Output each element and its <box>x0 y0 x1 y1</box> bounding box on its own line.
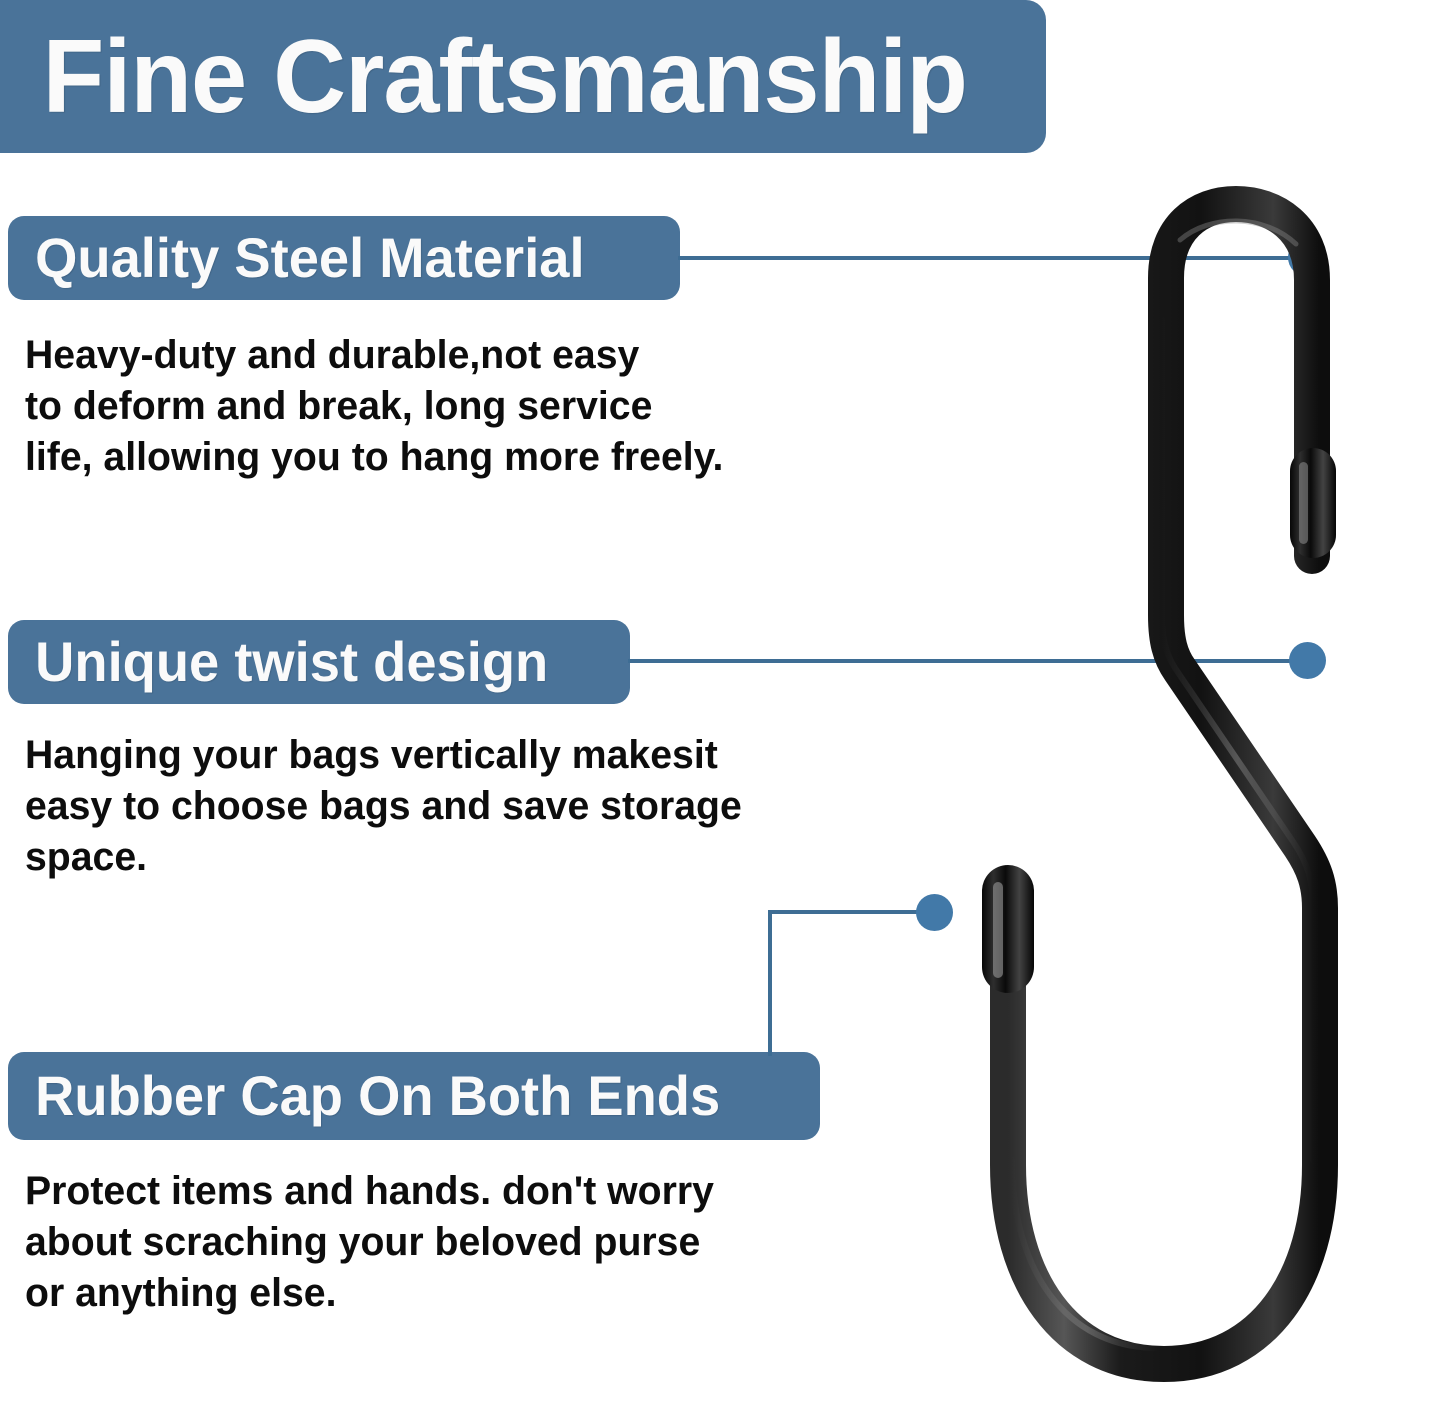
feature-description-quality-steel-material: Heavy-duty and durable,not easy to defor… <box>25 330 809 484</box>
rubber-cap-top-highlight <box>1299 462 1308 544</box>
feature-description-unique-twist-design: Hanging your bags vertically makesit eas… <box>25 730 809 884</box>
feature-badge-rubber-cap-on-both-ends: Rubber Cap On Both Ends <box>8 1052 820 1140</box>
hook-body <box>1008 204 1320 1364</box>
rubber-cap-bottom-body <box>982 865 1034 993</box>
feature-label: Quality Steel Material <box>8 230 612 286</box>
feature-badge-unique-twist-design: Unique twist design <box>8 620 630 704</box>
feature-badge-quality-steel-material: Quality Steel Material <box>8 216 680 300</box>
feature-label: Rubber Cap On Both Ends <box>8 1068 747 1124</box>
rubber-cap-top <box>1290 448 1336 558</box>
feature-label: Unique twist design <box>8 634 575 690</box>
rubber-cap-bottom-highlight <box>993 882 1003 978</box>
rubber-cap-bottom <box>982 865 1034 993</box>
product-infographic: Fine Craftsmanship Quality Steel Materia… <box>0 0 1445 1419</box>
s-hook-illustration <box>880 170 1445 1419</box>
s-hook-svg <box>880 170 1445 1419</box>
connector-line-3-vertical <box>768 910 772 1056</box>
page-title: Fine Craftsmanship <box>0 25 967 129</box>
feature-description-rubber-cap-on-both-ends: Protect items and hands. don't worry abo… <box>25 1166 809 1320</box>
title-banner: Fine Craftsmanship <box>0 0 1046 153</box>
rubber-cap-top-body <box>1290 448 1336 558</box>
